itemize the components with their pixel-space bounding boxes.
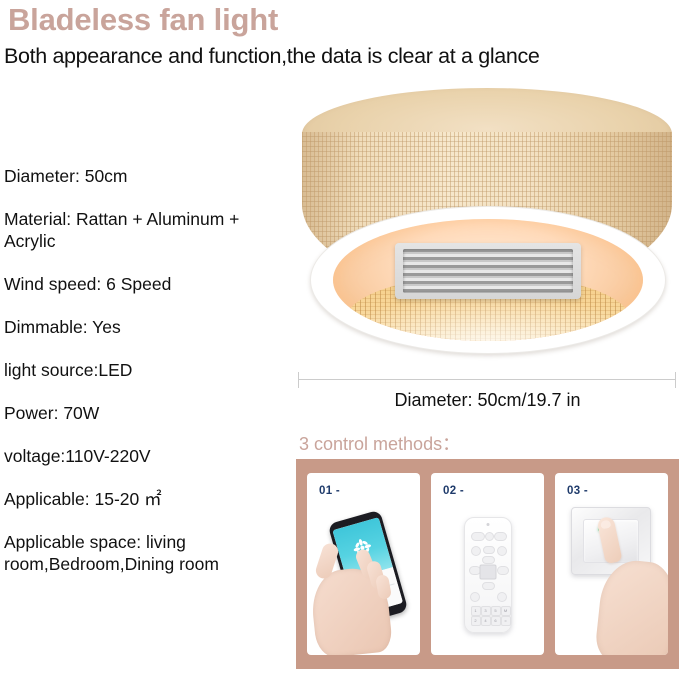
dimension-label: Diameter: 50cm/19.7 in	[296, 389, 679, 411]
app-control-illustration	[307, 503, 420, 655]
control-card-remote[interactable]: 02 - 1 3 5 M 2 4 6 =	[431, 473, 544, 655]
page-subtitle: Both appearance and function,the data is…	[0, 38, 679, 69]
card-label-01: 01 -	[319, 485, 340, 497]
remote-key: 1	[471, 606, 481, 616]
remote-button	[485, 532, 494, 541]
spec-item-applicable-area: Applicable: 15-20 ㎡	[4, 488, 294, 510]
remote-button	[497, 546, 507, 556]
spec-item-applicable-space: Applicable space: living room,Bedroom,Di…	[4, 531, 294, 575]
dimension-cap-right	[675, 372, 676, 388]
remote-button-right	[497, 566, 509, 575]
remote-button	[497, 592, 507, 602]
grille-slats	[403, 249, 573, 293]
control-methods-heading: 3 control methods：	[299, 433, 460, 455]
spec-item-power: Power: 70W	[4, 402, 294, 424]
remote-ir-led	[486, 523, 489, 526]
control-card-wall-switch[interactable]: 03 -	[555, 473, 668, 655]
control-card-app[interactable]: 01 -	[307, 473, 420, 655]
card-label-03: 03 -	[567, 485, 588, 497]
remote-button-up	[482, 556, 495, 564]
dimension-rule	[298, 379, 676, 380]
remote-button	[483, 546, 495, 554]
control-methods-panel: 01 -	[296, 459, 679, 669]
remote-control-device: 1 3 5 M 2 4 6 =	[464, 517, 512, 633]
spec-item-voltage: voltage:110V-220V	[4, 445, 294, 467]
dimension-cap-left	[298, 372, 299, 388]
remote-key: 2	[471, 616, 481, 626]
spec-item-diameter: Diameter: 50cm	[4, 165, 294, 187]
card-label-02: 02 -	[443, 485, 464, 497]
header-block: Bladeless fan light Both appearance and …	[0, 0, 679, 69]
spec-item-wind-speed: Wind speed: 6 Speed	[4, 273, 294, 295]
spec-item-light-source: light source:LED	[4, 359, 294, 381]
white-ring-bezel	[310, 206, 666, 354]
fan-vent-grille	[395, 243, 581, 299]
remote-button	[471, 546, 481, 556]
dimension-measure-line	[298, 372, 676, 388]
ceiling-fan-light-illustration	[298, 86, 677, 354]
page-title: Bladeless fan light	[0, 0, 679, 38]
remote-key: 6	[491, 616, 501, 626]
specification-list: Diameter: 50cm Material: Rattan + Alumin…	[4, 165, 294, 596]
remote-key: M	[501, 606, 511, 616]
remote-key: 5	[491, 606, 501, 616]
spec-item-material: Material: Rattan + Aluminum + Acrylic	[4, 208, 294, 252]
product-image	[296, 86, 679, 366]
spec-item-dimmable: Dimmable: Yes	[4, 316, 294, 338]
remote-button	[494, 532, 507, 541]
remote-button	[470, 592, 480, 602]
remote-button	[471, 532, 485, 541]
remote-key: 3	[481, 606, 491, 616]
warm-glow-halo	[333, 293, 643, 341]
fingernail	[600, 520, 611, 530]
remote-key: 4	[481, 616, 491, 626]
remote-button-down	[482, 582, 495, 590]
remote-center-button	[479, 565, 496, 580]
remote-key: =	[501, 616, 511, 626]
